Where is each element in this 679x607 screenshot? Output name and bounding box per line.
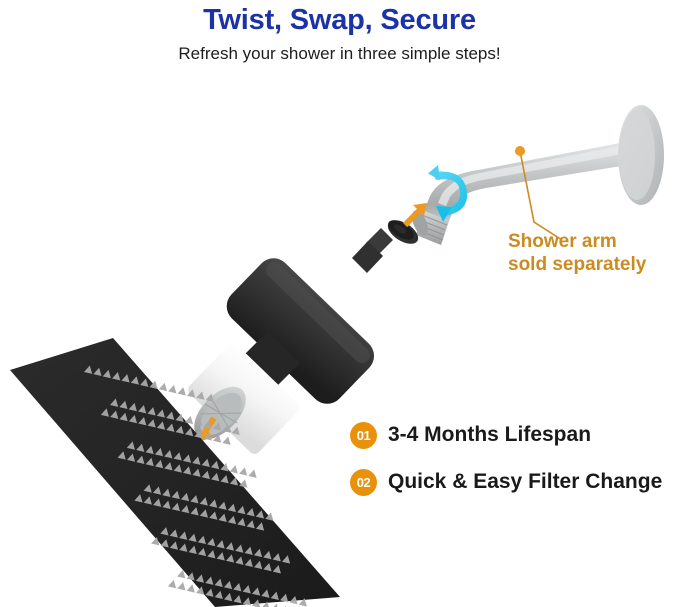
feature-label-1: 3-4 Months Lifespan	[388, 423, 591, 447]
callout-line-1: Shower arm	[508, 230, 646, 253]
feature-item-1: 01 3-4 Months Lifespan	[350, 417, 676, 453]
callout-shower-arm: Shower arm sold separately	[508, 230, 646, 276]
wall-flange	[618, 105, 664, 205]
feature-badge-02: 02	[350, 469, 377, 496]
feature-label-2: Quick & Easy Filter Change	[388, 470, 662, 494]
nozzle-face-plate	[10, 338, 343, 607]
feature-badge-01: 01	[350, 422, 377, 449]
product-infographic: Twist, Swap, Secure Refresh your shower …	[0, 0, 679, 607]
feature-item-2: 02 Quick & Easy Filter Change	[350, 464, 676, 500]
callout-line-2: sold separately	[508, 253, 646, 276]
product-illustration	[0, 0, 679, 607]
feature-list: 01 3-4 Months Lifespan 02 Quick & Easy F…	[350, 417, 676, 511]
